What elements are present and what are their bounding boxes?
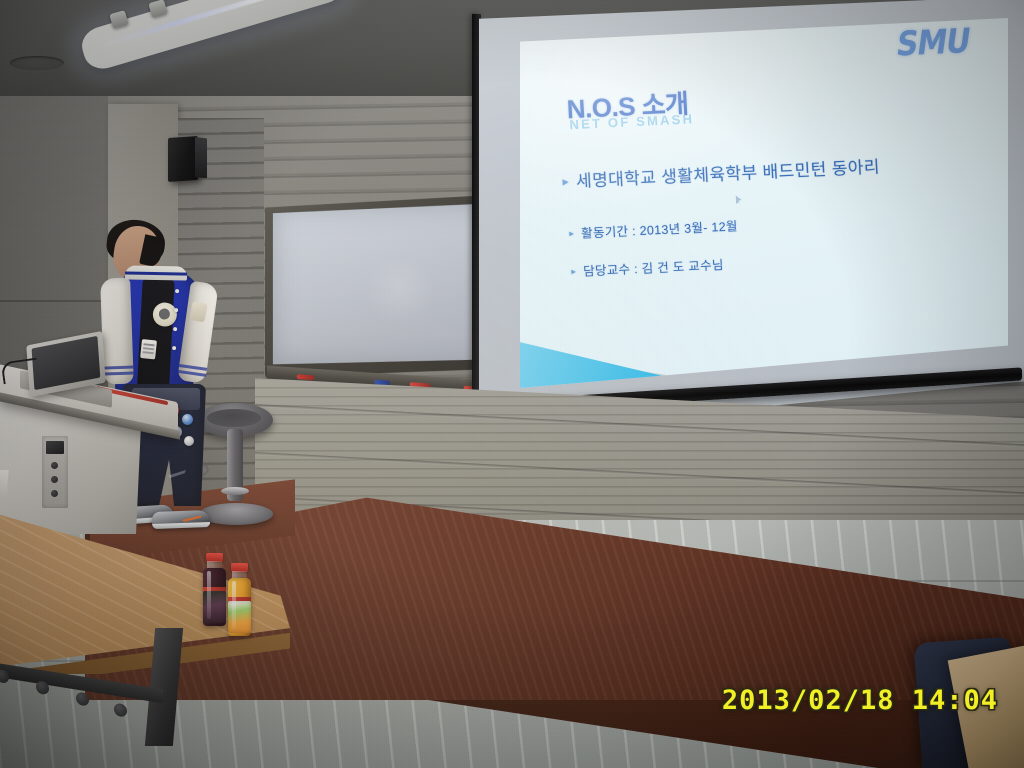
jacket-button	[173, 327, 177, 331]
camera-timestamp: 2013/02/18 14:04	[722, 685, 998, 716]
projected-slide: SMU N.O.S 소개 NET OF SMASH ▸세명대학교 생활체육학부 …	[520, 18, 1008, 388]
speaker-face	[195, 137, 207, 178]
mouse-cursor-icon	[736, 195, 742, 204]
jacket-collar	[125, 265, 187, 280]
bottle-highlight	[232, 581, 236, 629]
control-panel-display	[46, 441, 64, 454]
marker-red-icon	[297, 374, 315, 380]
jacket-pin-icon	[184, 436, 194, 446]
smu-logo: SMU	[894, 22, 972, 65]
slide-content: SMU N.O.S 소개 NET OF SMASH ▸세명대학교 생활체육학부 …	[520, 18, 1008, 388]
photograph: SMU N.O.S 소개 NET OF SMASH ▸세명대학교 생활체육학부 …	[0, 0, 1024, 768]
slide-bullet-3-text: 담당교수 : 김 건 도 교수님	[583, 258, 724, 279]
slide-bullet-3: ▸담당교수 : 김 건 도 교수님	[571, 254, 724, 280]
slide-bullet-1-text: 세명대학교 생활체육학부 배드민턴 동아리	[576, 157, 881, 191]
slide-bullet-2: ▸활동기간 : 2013년 3월- 12월	[569, 215, 738, 242]
jacket-pin-icon	[182, 414, 193, 425]
control-panel-button[interactable]	[51, 462, 58, 469]
slide-bullet-1: ▸세명대학교 생활체육학부 배드민턴 동아리	[562, 152, 881, 192]
slide-bullet-2-text: 활동기간 : 2013년 3월- 12월	[581, 219, 738, 240]
bullet-marker-icon: ▸	[569, 228, 574, 238]
jacket-button	[174, 308, 178, 312]
bottle-highlight	[207, 571, 211, 619]
whiteboard-smudge	[363, 253, 437, 325]
ceiling-vent	[10, 56, 64, 70]
bullet-marker-icon: ▸	[562, 174, 569, 188]
collar-stripe	[125, 271, 187, 275]
jacket-button	[175, 289, 179, 293]
table-caster	[0, 669, 9, 684]
orange-juice-bottle	[228, 563, 254, 645]
projection-screen: SMU N.O.S 소개 NET OF SMASH ▸세명대학교 생활체육학부 …	[462, 0, 1024, 456]
bullet-marker-icon: ▸	[571, 266, 576, 276]
panel-groove	[255, 452, 1024, 495]
dark-juice-bottle	[203, 553, 227, 631]
sleeve-stripe	[178, 370, 206, 376]
sleeve-stripe	[179, 364, 207, 370]
wall-speaker	[168, 136, 198, 182]
